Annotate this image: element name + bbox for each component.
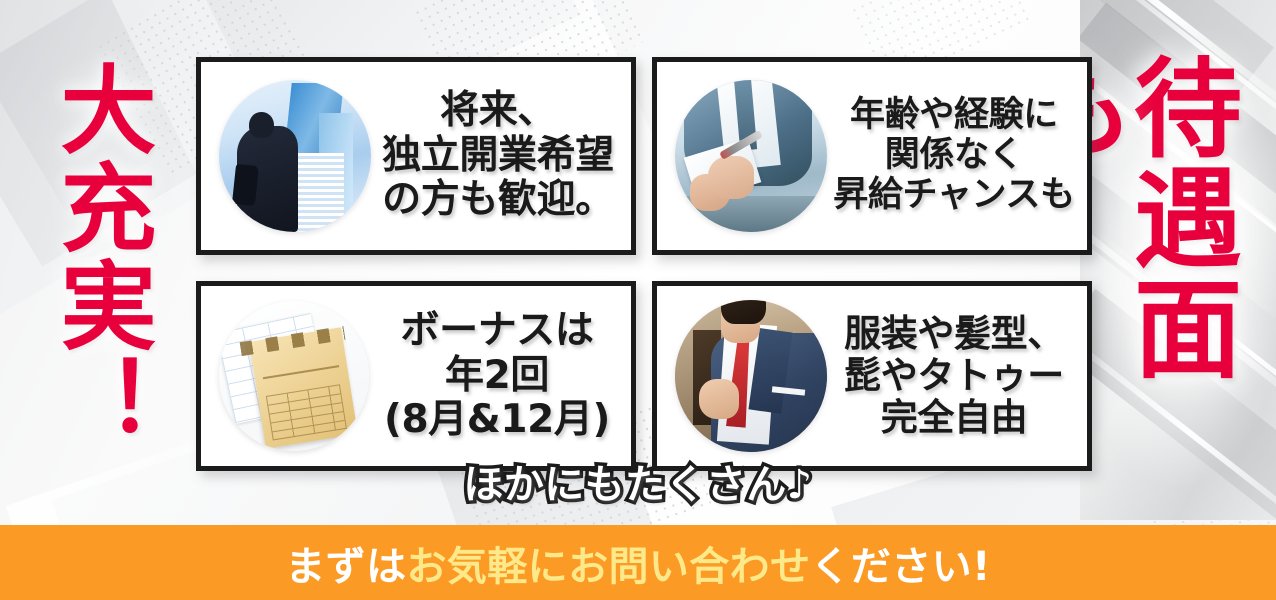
cta-suffix: ください! xyxy=(810,544,990,590)
contact-cta-bar[interactable]: まずはお気軽にお問い合わせください! xyxy=(0,525,1276,600)
card1-line2: 独立開業希望 xyxy=(375,134,621,178)
left-headline: 大充実！ xyxy=(52,60,148,470)
benefit-card-appearance-free[interactable]: 服装や髪型、 髭やタトゥー 完全自由 xyxy=(652,281,1092,471)
man-suit-red-tie-photo xyxy=(675,300,827,452)
card2-line3: 昇給チャンスも xyxy=(831,176,1077,216)
benefit-card-bonus-text: ボーナスは 年2回 (8月&12月) xyxy=(373,309,631,442)
card4-line1: 服装や髪型、 xyxy=(831,313,1077,355)
cta-highlight: お気軽にお問い合わせ xyxy=(406,544,810,590)
businessman-skyscraper-photo xyxy=(219,80,371,232)
salary-envelope-payslip-photo xyxy=(219,301,369,451)
recruitment-banner: 大充実！ 待遇面も 将来、 独立開業希望 の方も歓迎。 年齢や経験に 関係なく xyxy=(0,0,1276,600)
card3-line3: (8月&12月) xyxy=(373,398,621,442)
benefit-card-bonus[interactable]: ボーナスは 年2回 (8月&12月) xyxy=(196,281,636,471)
benefit-card-independence-text: 将来、 独立開業希望 の方も歓迎。 xyxy=(375,89,631,222)
benefit-card-appearance-free-text: 服装や髪型、 髭やタトゥー 完全自由 xyxy=(831,313,1087,440)
benefit-card-independence[interactable]: 将来、 独立開業希望 の方も歓迎。 xyxy=(196,57,636,255)
benefit-card-raise-chance[interactable]: 年齢や経験に 関係なく 昇給チャンスも xyxy=(652,57,1092,255)
benefit-card-raise-chance-text: 年齢や経験に 関係なく 昇給チャンスも xyxy=(831,96,1087,216)
card3-line2: 年2回 xyxy=(373,354,621,398)
card3-line1: ボーナスは xyxy=(373,309,621,353)
more-benefits-note: ほかにもたくさん♪ xyxy=(0,452,1276,510)
card4-line2: 髭やタトゥー xyxy=(831,355,1077,397)
contact-cta-text: まずはお気軽にお問い合わせください! xyxy=(285,534,990,592)
card2-line2: 関係なく xyxy=(831,136,1077,176)
hand-tablet-pen-photo xyxy=(675,80,827,232)
card1-line1: 将来、 xyxy=(375,89,621,133)
card4-line3: 完全自由 xyxy=(831,397,1077,439)
card2-line1: 年齢や経験に xyxy=(831,96,1077,136)
cta-prefix: まずは xyxy=(285,544,406,590)
card1-line3: の方も歓迎。 xyxy=(375,178,621,222)
